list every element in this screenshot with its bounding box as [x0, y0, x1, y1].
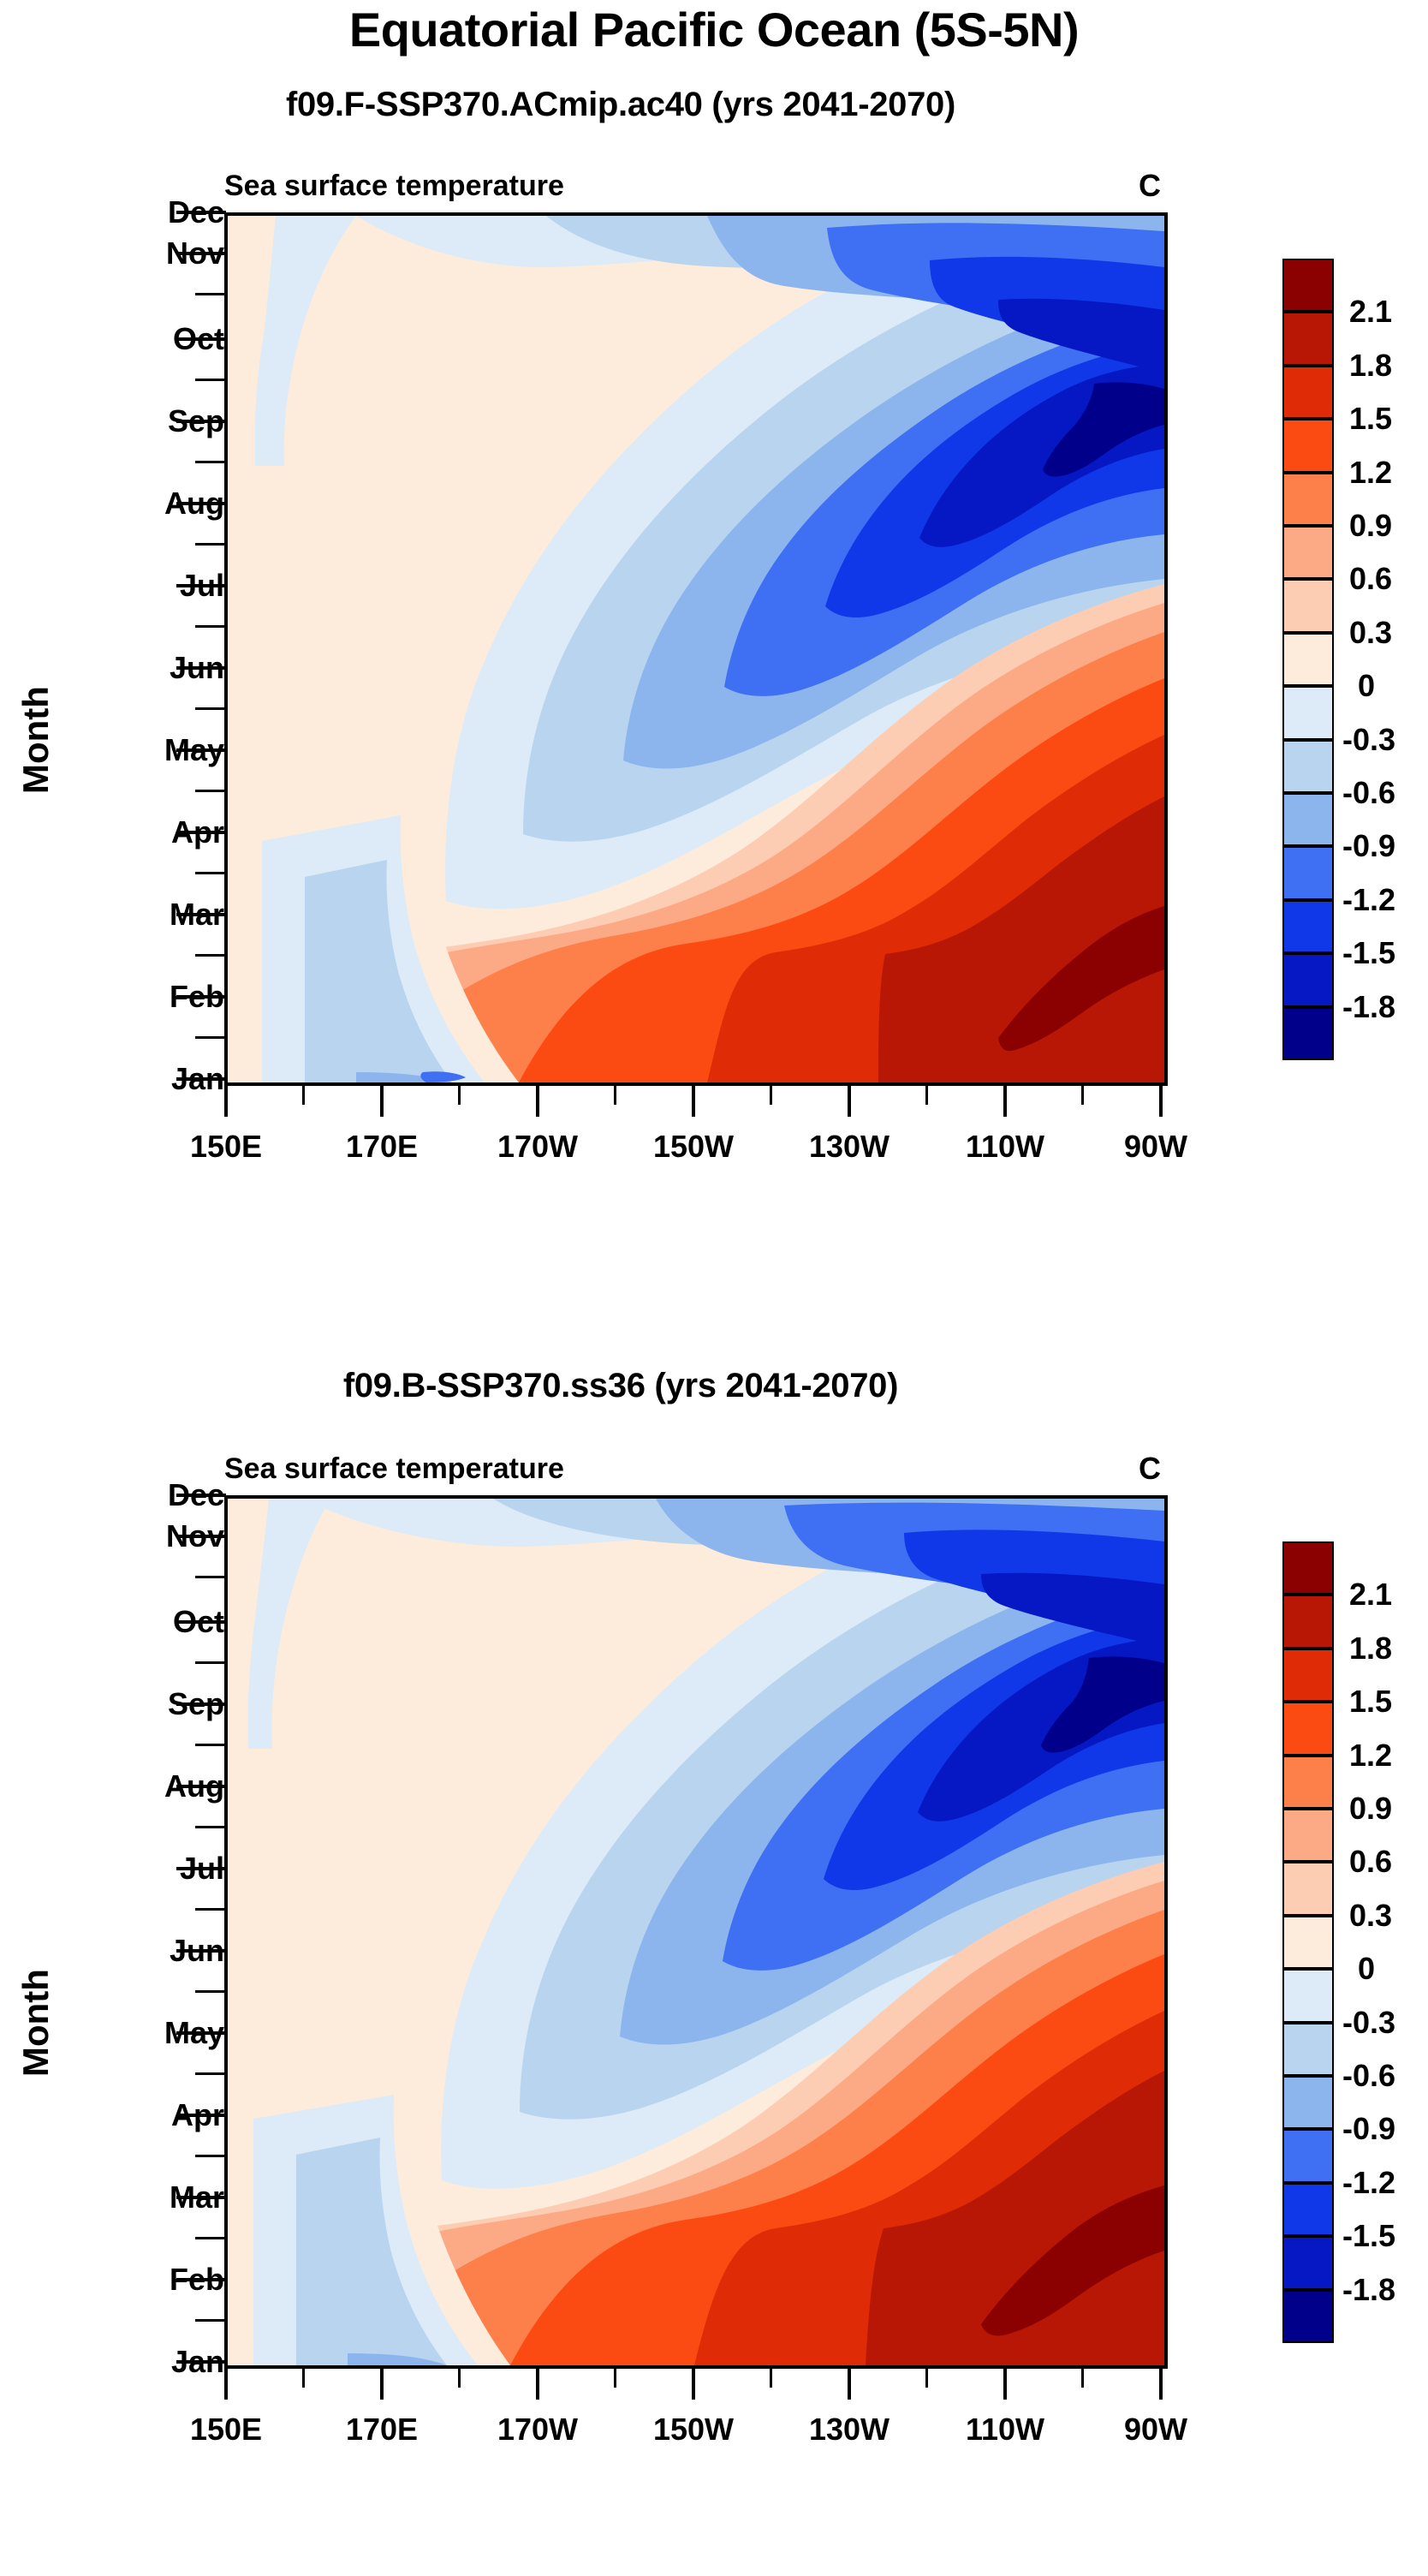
- colorbar-segment: [1282, 1756, 1334, 1809]
- colorbar-label: 1.2: [1349, 455, 1392, 491]
- colorbar-label: 1.2: [1349, 1738, 1392, 1774]
- colorbar-segment: [1282, 1969, 1334, 2022]
- colorbar-label: -1.8: [1342, 2272, 1395, 2308]
- colorbar-label: -0.3: [1342, 2005, 1395, 2041]
- colorbar-label: -0.9: [1342, 2111, 1395, 2147]
- colorbar-segment: [1282, 473, 1334, 526]
- xtick-label: 150E: [190, 2412, 262, 2448]
- colorbar-label: -0.6: [1342, 2058, 1395, 2094]
- colorbar-segment: [1282, 579, 1334, 632]
- colorbar-label: 0.3: [1349, 1898, 1392, 1934]
- xtick-label: 170E: [346, 2412, 418, 2448]
- colorbar-segment: [1282, 2076, 1334, 2129]
- panel-bottom-colorbar: 2.1 1.8 1.5 1.2 0.9 0.6 0.3 0 -0.3 -0.6 …: [1282, 1541, 1334, 2343]
- colorbar-label: -0.9: [1342, 828, 1395, 864]
- colorbar-label: 0.9: [1349, 1791, 1392, 1827]
- colorbar-segment: [1282, 2183, 1334, 2236]
- colorbar-label: -0.6: [1342, 775, 1395, 811]
- colorbar-segment: [1282, 1595, 1334, 1648]
- colorbar-label: 0.9: [1349, 508, 1392, 544]
- colorbar-segment: [1282, 1916, 1334, 1969]
- colorbar-label: 0.6: [1349, 561, 1392, 597]
- colorbar-segment: [1282, 2236, 1334, 2289]
- colorbar-segment: [1282, 259, 1334, 312]
- xtick-label: 170W: [497, 1129, 578, 1165]
- colorbar-label: 1.5: [1349, 1684, 1392, 1720]
- colorbar-segment: [1282, 793, 1334, 846]
- colorbar-segment: [1282, 953, 1334, 1006]
- colorbar-segment: [1282, 2129, 1334, 2182]
- xtick-label: 110W: [966, 2412, 1044, 2448]
- colorbar-segment: [1282, 2290, 1334, 2343]
- colorbar-label: 0: [1358, 668, 1375, 704]
- colorbar-segment: [1282, 2023, 1334, 2076]
- colorbar-label: -1.5: [1342, 935, 1395, 971]
- colorbar-segment: [1282, 633, 1334, 686]
- colorbar-label: -1.5: [1342, 2218, 1395, 2254]
- xtick-label: 90W: [1124, 1129, 1187, 1165]
- colorbar-label: -0.3: [1342, 722, 1395, 758]
- xtick-label: 130W: [809, 1129, 890, 1165]
- xtick-label: 110W: [966, 1129, 1044, 1165]
- colorbar-segment: [1282, 686, 1334, 739]
- colorbar-label: 1.5: [1349, 401, 1392, 437]
- colorbar-segment: [1282, 1702, 1334, 1755]
- colorbar-segment: [1282, 846, 1334, 899]
- colorbar-segment: [1282, 1007, 1334, 1060]
- colorbar-segment: [1282, 366, 1334, 419]
- colorbar-segment: [1282, 1862, 1334, 1915]
- colorbar-label: 0.6: [1349, 1844, 1392, 1880]
- colorbar-label: -1.2: [1342, 882, 1395, 918]
- xtick-label: 90W: [1124, 2412, 1187, 2448]
- colorbar-segment: [1282, 526, 1334, 579]
- colorbar-label: 2.1: [1349, 294, 1392, 330]
- xtick-label: 150W: [653, 2412, 734, 2448]
- panel-bottom-xaxis: 150E 170E 170W 150W 130W 110W 90W: [0, 1240, 1428, 2576]
- colorbar-label: -1.2: [1342, 2165, 1395, 2201]
- panel-bottom: f09.B-SSP370.ss36 (yrs 2041-2070) Sea su…: [0, 1240, 1428, 2576]
- panel-top-xaxis: 150E 170E 170W 150W 130W 110W 90W: [0, 0, 1428, 1336]
- panel-top: f09.F-SSP370.ACmip.ac40 (yrs 2041-2070) …: [0, 0, 1428, 1336]
- xtick-label: 150E: [190, 1129, 262, 1165]
- xtick-label: 170E: [346, 1129, 418, 1165]
- xtick-label: 170W: [497, 2412, 578, 2448]
- colorbar-segment: [1282, 1809, 1334, 1862]
- panel-top-colorbar: 2.1 1.8 1.5 1.2 0.9 0.6 0.3 0 -0.3 -0.6 …: [1282, 259, 1334, 1060]
- colorbar-segment: [1282, 312, 1334, 365]
- colorbar-label: 1.8: [1349, 348, 1392, 384]
- colorbar-segment: [1282, 900, 1334, 953]
- colorbar-segment: [1282, 419, 1334, 472]
- colorbar-label: -1.8: [1342, 989, 1395, 1025]
- xtick-label: 150W: [653, 1129, 734, 1165]
- colorbar-label: 0: [1358, 1951, 1375, 1987]
- colorbar-label: 1.8: [1349, 1631, 1392, 1667]
- colorbar-label: 0.3: [1349, 615, 1392, 651]
- colorbar-segment: [1282, 1541, 1334, 1595]
- colorbar-segment: [1282, 740, 1334, 793]
- xtick-label: 130W: [809, 2412, 890, 2448]
- colorbar-label: 2.1: [1349, 1577, 1392, 1613]
- colorbar-segment: [1282, 1649, 1334, 1702]
